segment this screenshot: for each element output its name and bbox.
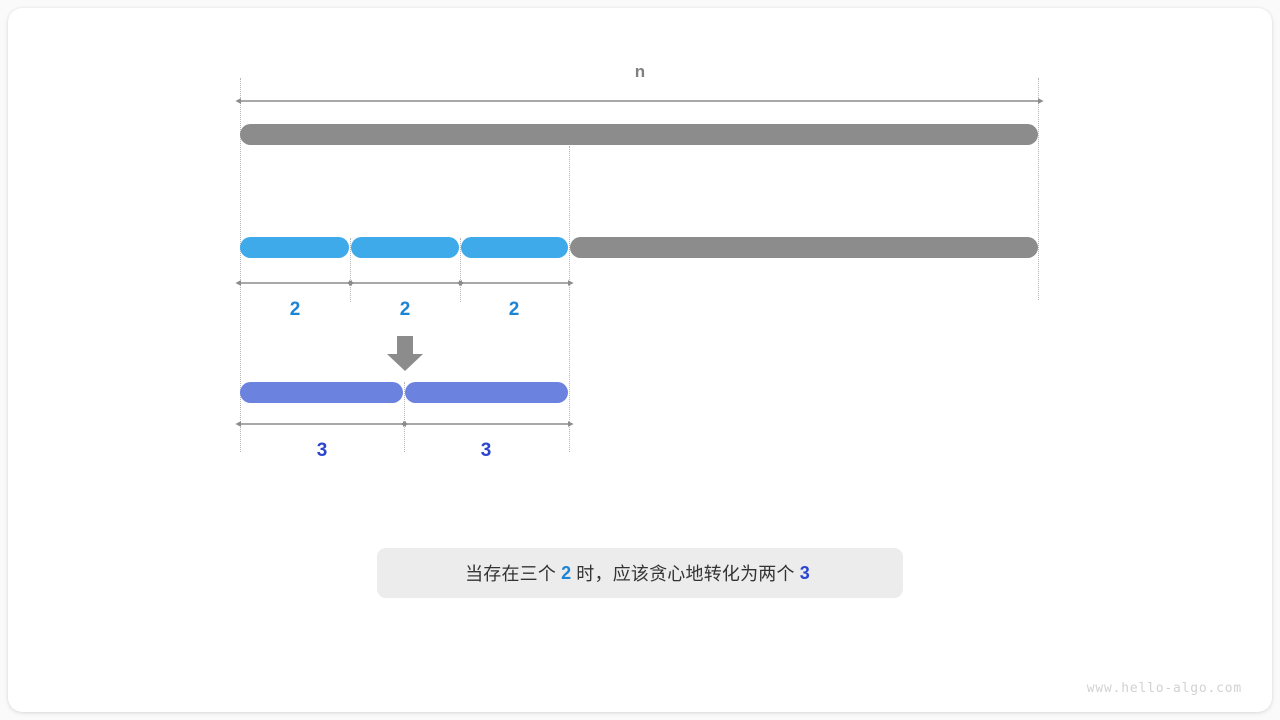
screenshot-root: n — [0, 0, 1280, 720]
caption-highlight-three: 3 — [795, 563, 815, 584]
measure-arrow-three-1 — [240, 417, 404, 431]
caption-highlight-two: 2 — [556, 563, 576, 584]
measure-arrow-three-2 — [405, 417, 569, 431]
measure-arrow-two-1 — [240, 276, 350, 290]
full-length-bar — [240, 124, 1038, 145]
caption-prefix: 当存在三个 — [465, 560, 556, 586]
remainder-bar — [570, 237, 1038, 258]
guide-line-right — [1038, 78, 1039, 300]
three-segment-bar-2 — [405, 382, 568, 403]
two-label-2: 2 — [365, 299, 445, 321]
two-segment-bar-2 — [351, 237, 459, 258]
two-segment-bar-3 — [461, 237, 568, 258]
site-watermark: www.hello-algo.com — [1087, 681, 1242, 696]
total-length-label: n — [600, 62, 680, 82]
two-label-3: 2 — [474, 299, 554, 321]
measure-arrow-n — [240, 94, 1039, 108]
three-segment-bar-1 — [240, 382, 403, 403]
two-label-1: 2 — [255, 299, 335, 321]
measure-arrow-two-2 — [351, 276, 460, 290]
caption-box: 当存在三个 2 时，应该贪心地转化为两个 3 — [377, 548, 903, 598]
two-segment-bar-1 — [240, 237, 349, 258]
algorithm-diagram: n — [0, 0, 1280, 720]
transform-down-arrow — [385, 336, 425, 372]
guide-line-middle — [569, 146, 570, 452]
three-label-2: 3 — [446, 440, 526, 462]
caption-middle: 时，应该贪心地转化为两个 — [576, 560, 794, 586]
three-label-1: 3 — [282, 440, 362, 462]
measure-arrow-two-3 — [461, 276, 569, 290]
